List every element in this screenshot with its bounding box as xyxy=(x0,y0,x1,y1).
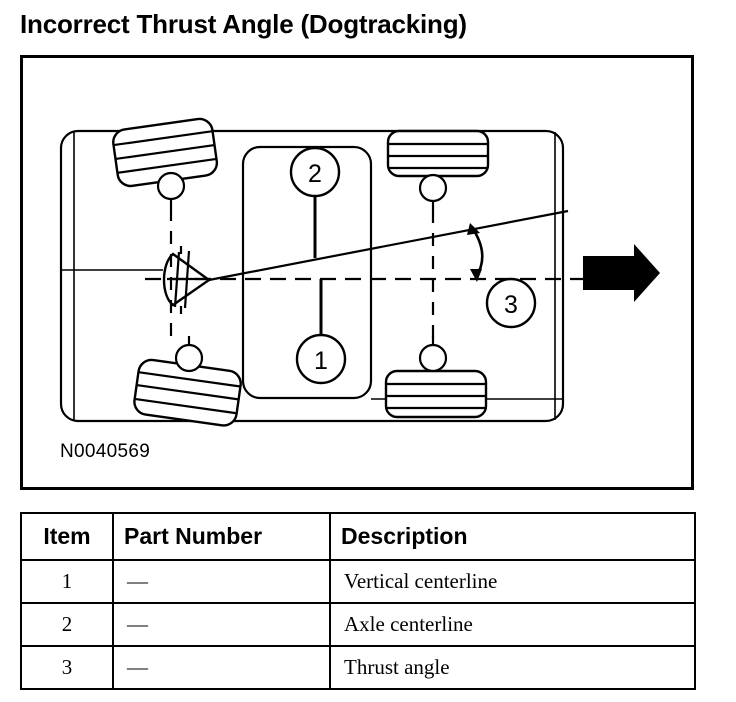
cell-item: 3 xyxy=(21,646,113,689)
thrust-angle-diagram: 2 1 3 xyxy=(23,58,691,487)
rear-left-hub xyxy=(176,336,202,371)
cell-item: 1 xyxy=(21,560,113,603)
callout-3-label: 3 xyxy=(504,291,518,319)
table-row: 1 — Vertical centerline xyxy=(21,560,695,603)
cell-description: Axle centerline xyxy=(330,603,695,646)
figure-frame: 2 1 3 N0040569 xyxy=(20,55,694,490)
table-header: Item Part Number Description xyxy=(21,513,695,560)
table-body: 1 — Vertical centerline 2 — Axle centerl… xyxy=(21,560,695,689)
parts-table: Item Part Number Description 1 — Vertica… xyxy=(20,512,696,690)
thrust-line xyxy=(209,211,568,280)
callout-1-label: 1 xyxy=(314,347,328,375)
cell-part-number: — xyxy=(113,603,330,646)
callout-2-label: 2 xyxy=(308,160,322,188)
travel-direction-arrow-icon xyxy=(583,244,660,302)
callout-2[interactable]: 2 xyxy=(291,148,339,258)
front-right-wheel xyxy=(388,131,488,176)
table-row: 2 — Axle centerline xyxy=(21,603,695,646)
column-header-description: Description xyxy=(330,513,695,560)
figure-id-label: N0040569 xyxy=(60,441,150,463)
callout-3[interactable]: 3 xyxy=(487,279,535,327)
page-title: Incorrect Thrust Angle (Dogtracking) xyxy=(20,7,467,41)
column-header-part-number: Part Number xyxy=(113,513,330,560)
rear-right-hub xyxy=(420,336,446,371)
thrust-angle-arc xyxy=(467,223,482,282)
rear-right-wheel xyxy=(386,371,486,417)
cell-description: Vertical centerline xyxy=(330,560,695,603)
front-left-hub xyxy=(158,173,184,208)
cell-item: 2 xyxy=(21,603,113,646)
figure-page: Incorrect Thrust Angle (Dogtracking) xyxy=(0,0,736,702)
front-right-hub xyxy=(420,175,446,210)
cell-part-number: — xyxy=(113,646,330,689)
cell-description: Thrust angle xyxy=(330,646,695,689)
callout-1[interactable]: 1 xyxy=(297,279,345,383)
table-header-row: Item Part Number Description xyxy=(21,513,695,560)
column-header-item: Item xyxy=(21,513,113,560)
table-row: 3 — Thrust angle xyxy=(21,646,695,689)
cell-part-number: — xyxy=(113,560,330,603)
